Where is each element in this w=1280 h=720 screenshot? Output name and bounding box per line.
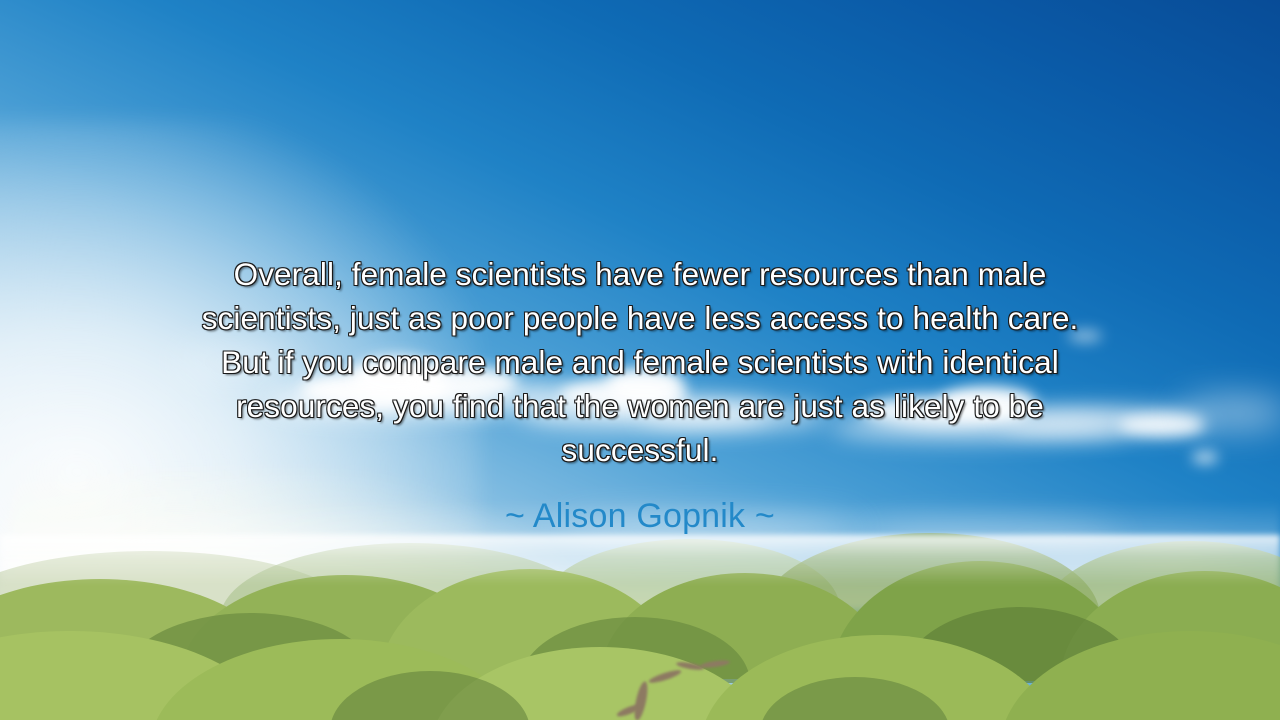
- author-container: ~ Alison Gopnik ~: [115, 496, 1165, 536]
- quote-text: Overall, female scientists have fewer re…: [115, 252, 1165, 472]
- author-attribution: ~ Alison Gopnik ~: [115, 496, 1165, 536]
- quote-card: Overall, female scientists have fewer re…: [0, 0, 1280, 720]
- hills-landscape: [0, 535, 1280, 720]
- quote-container: Overall, female scientists have fewer re…: [115, 252, 1165, 472]
